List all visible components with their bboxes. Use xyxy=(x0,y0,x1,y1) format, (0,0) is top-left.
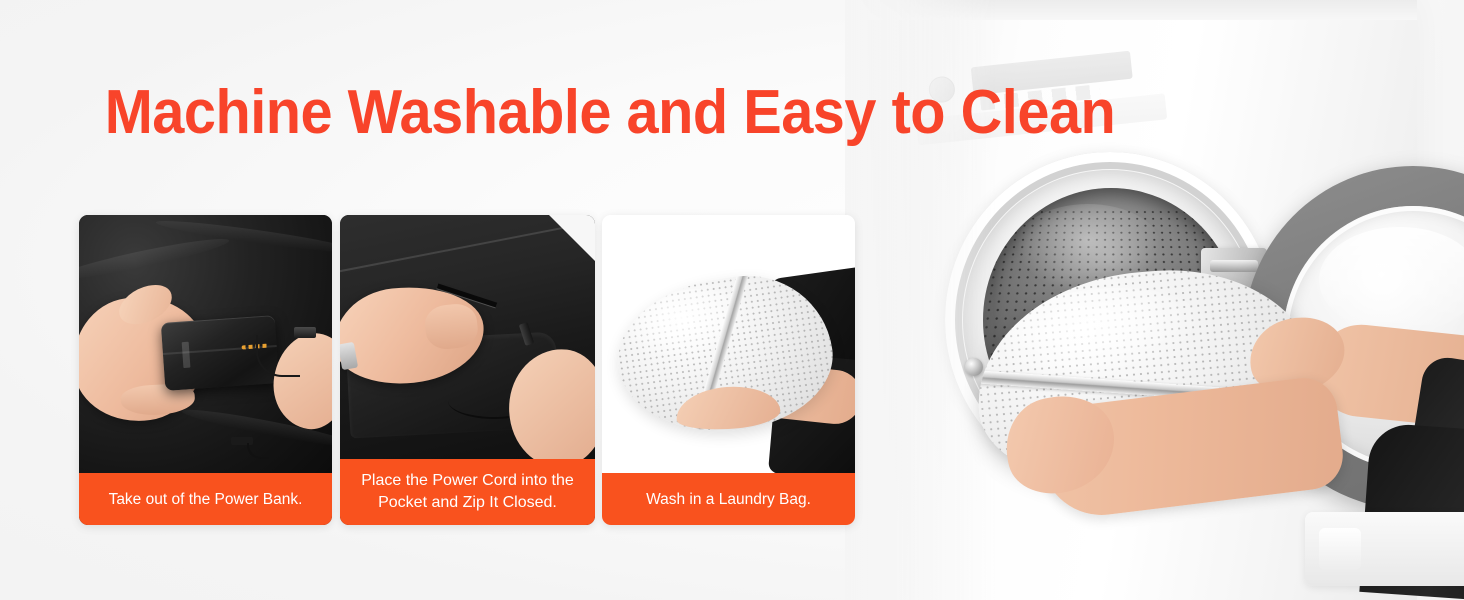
jacket-cord-connector xyxy=(231,437,267,457)
power-bank-logo xyxy=(182,342,191,368)
dc-plug-icon xyxy=(519,322,534,346)
step-1-caption: Take out of the Power Bank. xyxy=(79,473,332,525)
step-card-3[interactable]: Wash in a Laundry Bag. xyxy=(602,215,855,525)
step-3-caption: Wash in a Laundry Bag. xyxy=(602,473,855,525)
knuckles xyxy=(423,302,479,351)
step-card-1[interactable]: Take out of the Power Bank. xyxy=(79,215,332,525)
power-cord-plug xyxy=(493,323,533,369)
step-2-caption: Place the Power Cord into the Pocket and… xyxy=(340,459,595,525)
step-card-2[interactable]: Place the Power Cord into the Pocket and… xyxy=(340,215,595,525)
step-2-photo xyxy=(340,215,595,459)
step-1-photo xyxy=(79,215,332,473)
fabric-fold xyxy=(79,233,231,285)
power-cord-with-plug xyxy=(262,327,316,339)
page-title: Machine Washable and Easy to Clean xyxy=(43,78,1178,148)
step-3-photo xyxy=(602,215,855,473)
promo-banner: Machine Washable and Easy to Clean xyxy=(0,0,1464,600)
pedestal-drawer xyxy=(1319,528,1361,570)
connector-wire xyxy=(247,443,269,459)
corner-notch xyxy=(549,215,595,261)
steps-row: Take out of the Power Bank. Place xyxy=(79,215,859,527)
washer-pedestal xyxy=(1305,512,1464,586)
